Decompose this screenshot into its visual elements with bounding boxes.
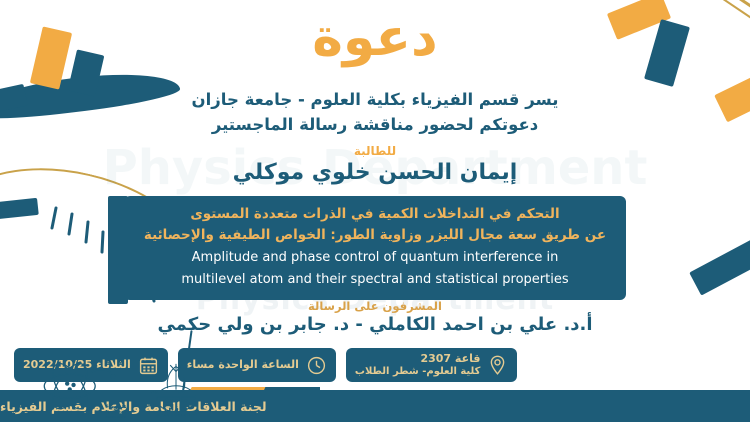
logo-group: جامعة جازان ١٩٨٤ ١٤٢٦ JAZAN UNIVERSITY ق… [30,360,212,418]
page-title-calligraphy: دعوة [0,6,750,71]
invitation-poster: Physics Department Physics Department دع… [0,0,750,422]
event-venue-college: كلية العلوم- شطر الطلاب [355,366,481,378]
student-name: إيمان الحسن خلوي موكلي [0,160,750,185]
physics-department-logo: قسم الفيزياء Physics Department Jazan Un… [30,362,126,418]
thesis-title-arabic-line1: التحكم في التداخلات الكمية في الذرات متع… [138,204,612,225]
thesis-title-banner: التحكم في التداخلات الكمية في الذرات متع… [124,196,626,300]
clock-icon [306,355,327,376]
svg-text:JAZAN UNIVERSITY: JAZAN UNIVERSITY [155,414,196,418]
svg-text:١٤٢٦: ١٤٢٦ [177,390,185,395]
invitation-intro: يسر قسم الفيزياء بكلية العلوم - جامعة جا… [0,88,750,138]
svg-text:Jazan University: Jazan University [104,414,126,418]
student-label: للطالبة [0,144,750,158]
thesis-title-arabic-line2: عن طريق سعة مجال الليزر وزاوية الطور: ال… [138,225,612,246]
invitation-intro-line1: يسر قسم الفيزياء بكلية العلوم - جامعة جا… [0,88,750,113]
svg-text:١٩٨٤: ١٩٨٤ [150,390,158,395]
svg-text:جازان: جازان [164,402,188,413]
event-venue-hall: قاعة 2307 [420,352,480,365]
jazan-university-logo: جامعة جازان ١٩٨٤ ١٤٢٦ JAZAN UNIVERSITY [140,360,212,418]
supervisors-label: المشرفون على الرسالة [0,299,750,313]
invitation-intro-line2: دعوتكم لحضور مناقشة رسالة الماجستير [0,113,750,138]
event-venue-pill: قاعة 2307 كلية العلوم- شطر الطلاب [346,348,518,382]
event-venue-text: قاعة 2307 كلية العلوم- شطر الطلاب [355,352,481,377]
location-pin-icon [487,354,508,377]
supervisors-names: أ.د. علي بن احمد الكاملي - د. جابر بن ول… [0,314,750,335]
thesis-title-english-line2: multilevel atom and their spectral and s… [138,271,612,290]
svg-text:قسم الفيزياء: قسم الفيزياء [105,402,126,410]
thesis-title-english-line1: Amplitude and phase control of quantum i… [138,249,612,268]
